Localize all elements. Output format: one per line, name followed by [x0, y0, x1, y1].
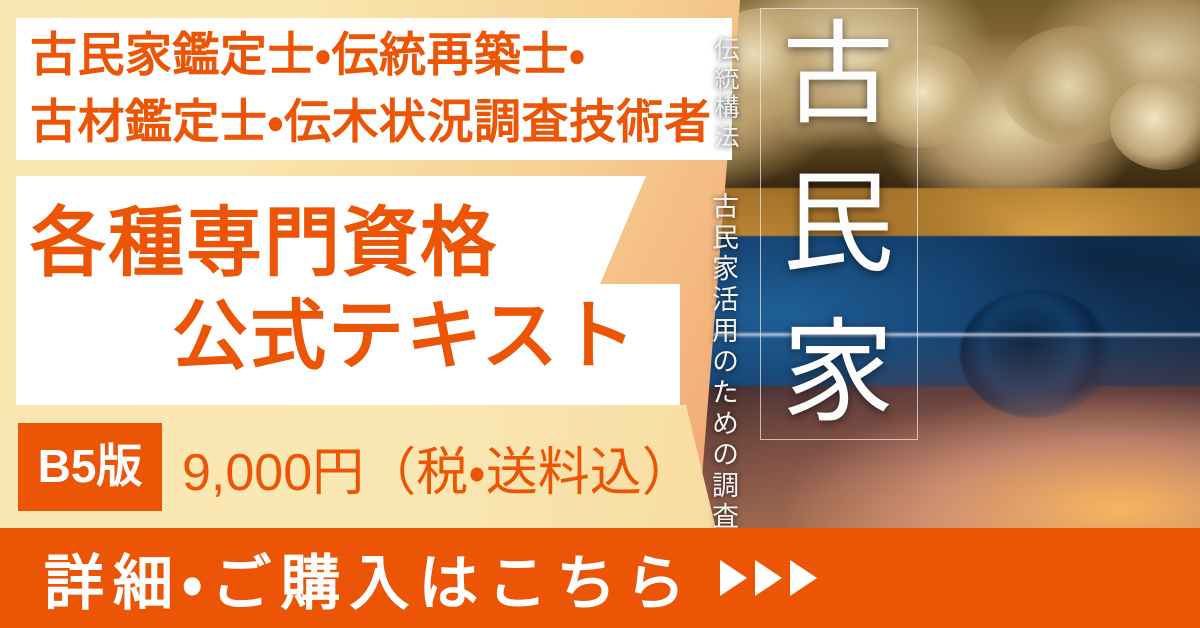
- book-cover-char-3: 家: [782, 318, 894, 430]
- book-cover-char-2: 民: [782, 169, 894, 281]
- main-title-line-2: 公式テキスト: [16, 291, 680, 384]
- chevron-right-icon-1: [720, 560, 747, 596]
- headline-text-group: 古民家鑑定士・伝統再築士・ 古材鑑定士・伝木状況調査技術者: [16, 18, 732, 160]
- cta-arrow-group: [720, 560, 817, 596]
- chevron-right-icon-2: [755, 560, 782, 596]
- main-title-line-1: 各種専門資格: [16, 198, 680, 291]
- promo-banner: 古民家鑑定士・伝統再築士・ 古材鑑定士・伝木状況調査技術者 各種専門資格 公式テ…: [0, 0, 1200, 628]
- cta-bar[interactable]: 詳細・ご購入はこちら: [0, 528, 1200, 628]
- price-row: B5版 9,000円（税・送料込）: [0, 405, 700, 529]
- headline-line-1: 古民家鑑定士・伝統再築士・: [30, 22, 732, 89]
- chevron-right-icon-3: [790, 560, 817, 596]
- format-badge: B5版: [18, 423, 162, 511]
- main-title-text-group: 各種専門資格 公式テキスト: [16, 176, 680, 405]
- book-cover-char-1: 古: [782, 20, 894, 132]
- headline-line-2: 古材鑑定士・伝木状況調査技術者: [30, 89, 732, 156]
- book-cover-title: 古 民 家: [768, 20, 908, 430]
- cta-label: 詳細・ご購入はこちら: [44, 535, 694, 622]
- price-amount: 9,000円（税・送料込）: [182, 430, 694, 505]
- book-vertical-line-1: 伝統構法: [706, 36, 742, 152]
